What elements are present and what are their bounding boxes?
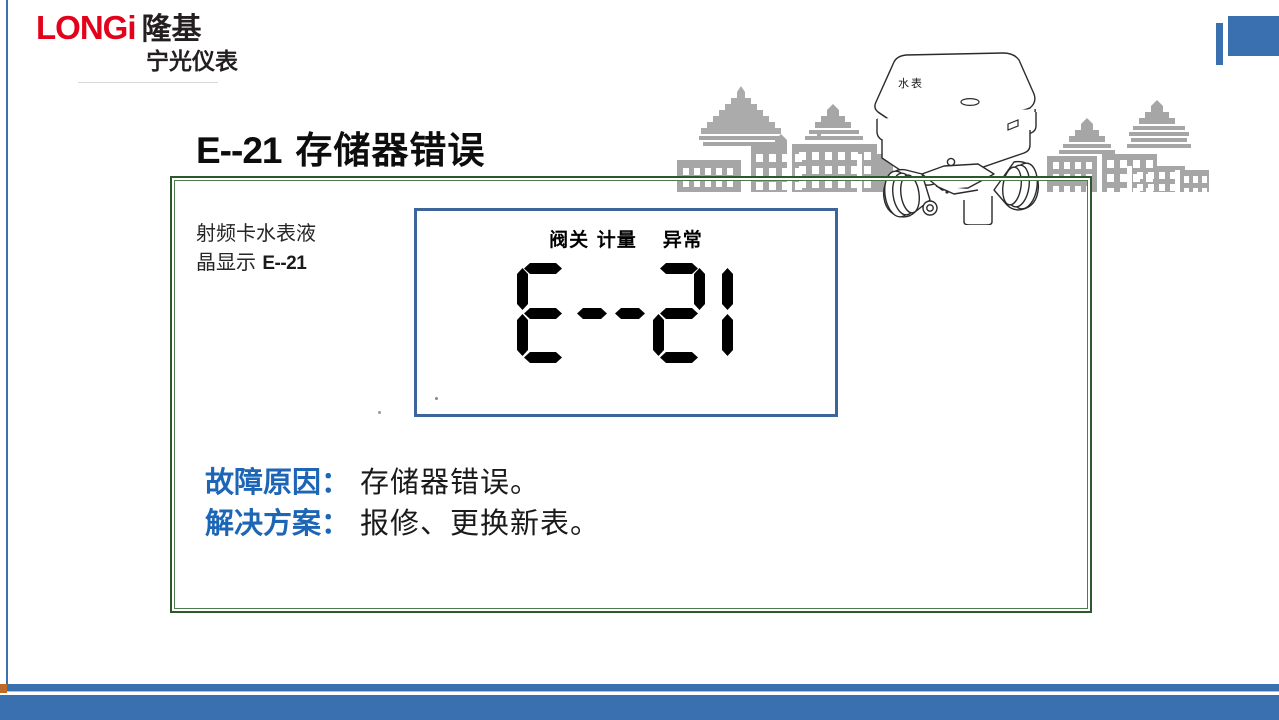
skyline-right-group — [1043, 62, 1243, 192]
lcd-seven-segment-readout — [417, 263, 835, 363]
logo-chinese-text: 隆基 — [142, 12, 202, 48]
lcd-segment-char-dash-1 — [577, 263, 607, 363]
lcd-status-abnormal: 异常 — [663, 229, 703, 251]
description-line-1: 射频卡水表液 — [196, 221, 316, 245]
decoration-bar-thin — [1216, 23, 1223, 65]
slide-canvas: LONGi 隆基 宁光仪表 — [0, 0, 1279, 720]
page-title-text: 存储器错误 — [295, 129, 485, 172]
footer-bar-main: — 1 — — [0, 695, 1279, 720]
lcd-corner-dot — [435, 397, 438, 400]
lcd-segment-char-E — [517, 263, 569, 363]
lcd-segment-char-dash-2 — [615, 263, 645, 363]
fault-solution-label: 解决方案： — [205, 503, 350, 544]
lcd-segment-char-2 — [653, 263, 705, 363]
left-edge-accent-line — [6, 0, 8, 684]
water-meter-label: 水表 — [898, 75, 924, 91]
decorative-dot-a — [378, 411, 381, 414]
logo-underline-divider — [78, 82, 218, 83]
lcd-status-valve-closed: 阀关 计量 — [549, 229, 637, 251]
decoration-bar-block — [1228, 16, 1279, 56]
logo-subtitle-text: 宁光仪表 — [36, 48, 246, 76]
fault-cause-value: 存储器错误。 — [360, 462, 540, 503]
footer-accent-marker — [0, 684, 7, 693]
fault-cause-label: 故障原因： — [205, 462, 350, 503]
page-title: E--21 存储器错误 — [196, 120, 485, 174]
lcd-segment-char-1 — [713, 263, 735, 363]
description-line-2-code: E--21 — [262, 253, 306, 274]
fault-solution-row: 解决方案： 报修、更换新表。 — [205, 503, 600, 544]
fault-solution-value: 报修、更换新表。 — [360, 503, 600, 544]
fault-cause-row: 故障原因： 存储器错误。 — [205, 462, 600, 503]
lcd-description-text: 射频卡水表液 晶显示 E--21 — [196, 219, 376, 278]
lcd-status-row: 阀关 计量异常 — [417, 225, 835, 252]
logo-primary-row: LONGi 隆基 — [36, 10, 246, 48]
company-logo: LONGi 隆基 宁光仪表 — [36, 10, 246, 88]
page-title-code: E--21 — [196, 130, 281, 171]
lcd-display-panel: 阀关 计量异常 — [414, 208, 838, 417]
fault-info-block: 故障原因： 存储器错误。 解决方案： 报修、更换新表。 — [205, 462, 600, 544]
logo-latin-text: LONGi — [36, 10, 136, 46]
description-line-2-prefix: 晶显示 — [196, 250, 262, 274]
